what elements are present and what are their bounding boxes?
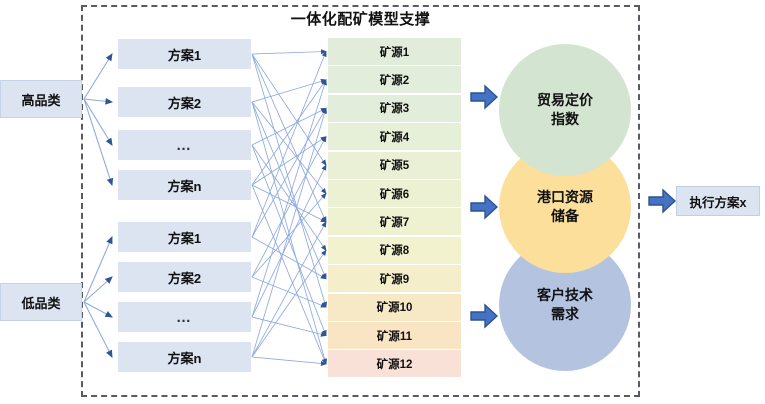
page-title: 一体化配矿模型支撑 xyxy=(81,8,640,29)
scheme-label: 方案2 xyxy=(168,268,201,287)
scheme-high-n[interactable]: 方案n xyxy=(118,170,251,200)
mine-source-item[interactable]: 矿源4 xyxy=(328,123,461,150)
mine-source-label: 矿源9 xyxy=(380,271,409,287)
scheme-label: 方案2 xyxy=(168,93,201,112)
circle-trade-pricing-index-label: 贸易定价指数 xyxy=(537,91,593,129)
circle-port-resource-reserve-label: 港口资源储备 xyxy=(537,188,593,226)
category-high-grade-label: 高品类 xyxy=(21,90,60,109)
mine-source-label: 矿源11 xyxy=(377,328,412,344)
mine-source-item[interactable]: 矿源5 xyxy=(328,152,461,179)
scheme-low-1[interactable]: 方案1 xyxy=(118,222,251,252)
mine-source-item[interactable]: 矿源11 xyxy=(328,322,461,349)
scheme-label: 方案1 xyxy=(168,228,201,247)
scheme-label: … xyxy=(176,137,193,154)
category-low-grade[interactable]: 低品类 xyxy=(0,283,82,321)
mine-source-label: 矿源5 xyxy=(380,157,409,173)
mine-source-item[interactable]: 矿源9 xyxy=(328,265,461,292)
block-arrow-to-customer-demand xyxy=(470,303,498,329)
scheme-low-2[interactable]: 方案2 xyxy=(118,262,251,292)
mine-source-label: 矿源1 xyxy=(380,44,409,60)
mine-source-label: 矿源7 xyxy=(380,214,409,230)
result-execution-plan[interactable]: 执行方案x xyxy=(676,186,760,216)
mine-source-item[interactable]: 矿源1 xyxy=(328,38,461,65)
mine-source-item[interactable]: 矿源10 xyxy=(328,294,461,321)
scheme-label: 方案1 xyxy=(168,45,201,64)
mine-source-label: 矿源12 xyxy=(377,356,413,372)
block-arrow-to-port-reserve xyxy=(470,194,498,220)
scheme-label: 方案n xyxy=(168,176,202,195)
mine-source-item[interactable]: 矿源3 xyxy=(328,95,461,122)
scheme-label: … xyxy=(176,309,193,326)
mine-source-item[interactable]: 矿源12 xyxy=(328,350,461,377)
scheme-high-2[interactable]: 方案2 xyxy=(118,87,251,117)
circle-trade-pricing-index[interactable]: 贸易定价指数 xyxy=(499,44,631,176)
mine-source-item[interactable]: 矿源7 xyxy=(328,208,461,235)
block-arrow-to-result xyxy=(648,188,676,214)
category-high-grade[interactable]: 高品类 xyxy=(0,80,82,118)
scheme-low-ellipsis: … xyxy=(118,302,251,332)
mine-source-label: 矿源3 xyxy=(380,100,409,116)
category-low-grade-label: 低品类 xyxy=(21,293,60,312)
mine-source-label: 矿源4 xyxy=(380,129,409,145)
scheme-low-n[interactable]: 方案n xyxy=(118,342,251,372)
mine-source-item[interactable]: 矿源8 xyxy=(328,237,461,264)
scheme-high-1[interactable]: 方案1 xyxy=(118,39,251,69)
diagram-canvas: 一体化配矿模型支撑 高品类 低品类 方案1 方案2 … 方案n 方案1 方案2 … xyxy=(0,0,765,404)
mine-source-label: 矿源10 xyxy=(377,299,413,315)
circle-customer-tech-demand-label: 客户技术需求 xyxy=(537,286,593,324)
mine-source-item[interactable]: 矿源2 xyxy=(328,66,461,93)
block-arrow-to-trade-index xyxy=(470,84,498,110)
mine-source-label: 矿源8 xyxy=(380,242,409,258)
scheme-high-ellipsis: … xyxy=(118,130,251,160)
mine-source-label: 矿源6 xyxy=(380,186,409,202)
mine-source-label: 矿源2 xyxy=(380,72,409,88)
result-execution-plan-label: 执行方案x xyxy=(690,192,747,211)
mine-source-item[interactable]: 矿源6 xyxy=(328,180,461,207)
scheme-label: 方案n xyxy=(168,348,202,367)
